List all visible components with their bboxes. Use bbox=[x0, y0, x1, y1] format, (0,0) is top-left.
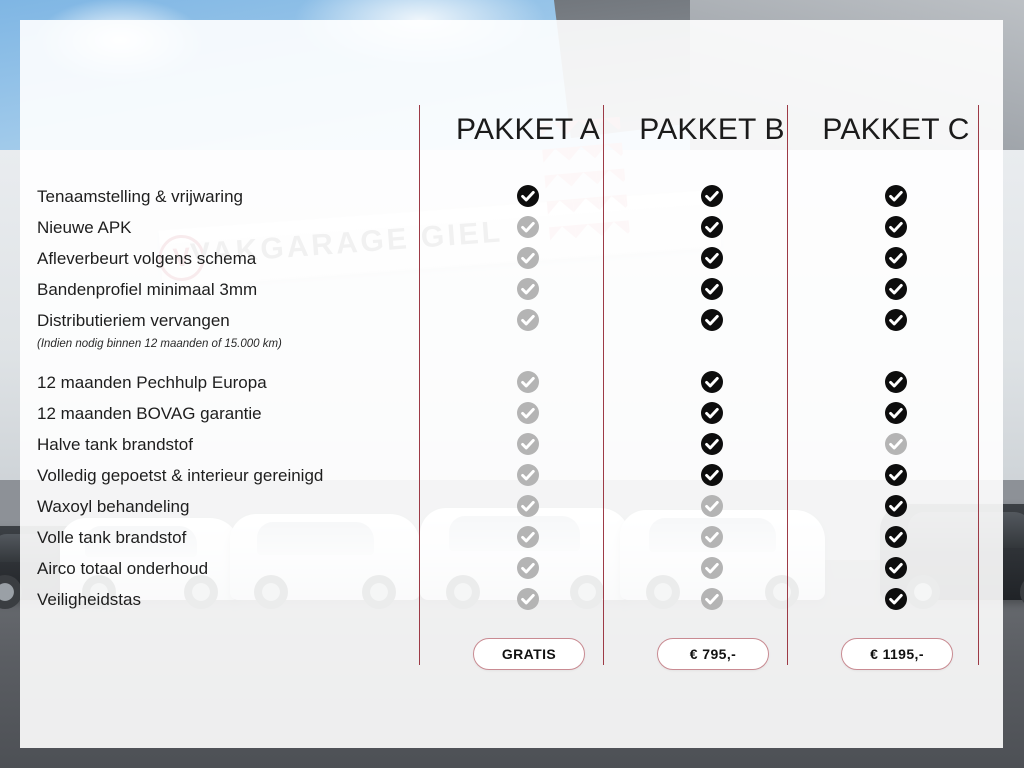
check-icon-a bbox=[517, 247, 539, 269]
price-badge-c[interactable]: € 1195,- bbox=[841, 638, 953, 670]
check-icon-c bbox=[885, 371, 907, 393]
content-panel: PAKKET APAKKET BPAKKET CTenaamstelling &… bbox=[20, 20, 1003, 748]
column-divider bbox=[978, 105, 979, 665]
check-icon-c bbox=[885, 464, 907, 486]
check-icon-b bbox=[701, 278, 723, 300]
feature-label: Airco totaal onderhoud bbox=[37, 559, 208, 579]
check-icon-b bbox=[701, 371, 723, 393]
check-icon-a bbox=[517, 588, 539, 610]
check-icon-b bbox=[701, 526, 723, 548]
feature-label: Afleverbeurt volgens schema bbox=[37, 249, 256, 269]
check-icon-a bbox=[517, 278, 539, 300]
feature-label: Nieuwe APK bbox=[37, 218, 132, 238]
feature-label: Volle tank brandstof bbox=[37, 528, 186, 548]
check-icon-c bbox=[885, 433, 907, 455]
check-icon-c bbox=[885, 495, 907, 517]
check-icon-c bbox=[885, 278, 907, 300]
check-icon-b bbox=[701, 433, 723, 455]
feature-label: 12 maanden BOVAG garantie bbox=[37, 404, 262, 424]
check-icon-c bbox=[885, 185, 907, 207]
column-divider bbox=[787, 105, 788, 665]
check-icon-a bbox=[517, 185, 539, 207]
feature-label: Tenaamstelling & vrijwaring bbox=[37, 187, 243, 207]
feature-label: Bandenprofiel minimaal 3mm bbox=[37, 280, 257, 300]
column-divider bbox=[419, 105, 420, 665]
check-icon-a bbox=[517, 371, 539, 393]
package-header-c: PAKKET C bbox=[786, 113, 1006, 153]
feature-subnote: (Indien nodig binnen 12 maanden of 15.00… bbox=[37, 338, 282, 350]
check-icon-b bbox=[701, 402, 723, 424]
check-icon-b bbox=[701, 588, 723, 610]
check-icon-c bbox=[885, 247, 907, 269]
package-comparison-table: PAKKET APAKKET BPAKKET CTenaamstelling &… bbox=[20, 20, 1003, 748]
check-icon-c bbox=[885, 402, 907, 424]
check-icon-a bbox=[517, 402, 539, 424]
check-icon-a bbox=[517, 526, 539, 548]
column-divider bbox=[603, 105, 604, 665]
check-icon-a bbox=[517, 309, 539, 331]
check-icon-c bbox=[885, 588, 907, 610]
price-badge-b[interactable]: € 795,- bbox=[657, 638, 769, 670]
check-icon-b bbox=[701, 185, 723, 207]
feature-label: Volledig gepoetst & interieur gereinigd bbox=[37, 466, 323, 486]
check-icon-a bbox=[517, 557, 539, 579]
check-icon-b bbox=[701, 495, 723, 517]
check-icon-c bbox=[885, 526, 907, 548]
check-icon-c bbox=[885, 216, 907, 238]
check-icon-a bbox=[517, 464, 539, 486]
check-icon-a bbox=[517, 216, 539, 238]
feature-label: 12 maanden Pechhulp Europa bbox=[37, 373, 267, 393]
feature-label: Veiligheidstas bbox=[37, 590, 141, 610]
check-icon-b bbox=[701, 557, 723, 579]
check-icon-c bbox=[885, 557, 907, 579]
check-icon-a bbox=[517, 433, 539, 455]
slide-canvas: V VAKGARAGE GIEL bbox=[0, 0, 1024, 768]
feature-label: Halve tank brandstof bbox=[37, 435, 193, 455]
check-icon-b bbox=[701, 247, 723, 269]
price-badge-a[interactable]: GRATIS bbox=[473, 638, 585, 670]
check-icon-b bbox=[701, 464, 723, 486]
feature-label: Distributieriem vervangen bbox=[37, 311, 230, 331]
feature-label: Waxoyl behandeling bbox=[37, 497, 189, 517]
check-icon-b bbox=[701, 309, 723, 331]
check-icon-a bbox=[517, 495, 539, 517]
check-icon-b bbox=[701, 216, 723, 238]
check-icon-c bbox=[885, 309, 907, 331]
